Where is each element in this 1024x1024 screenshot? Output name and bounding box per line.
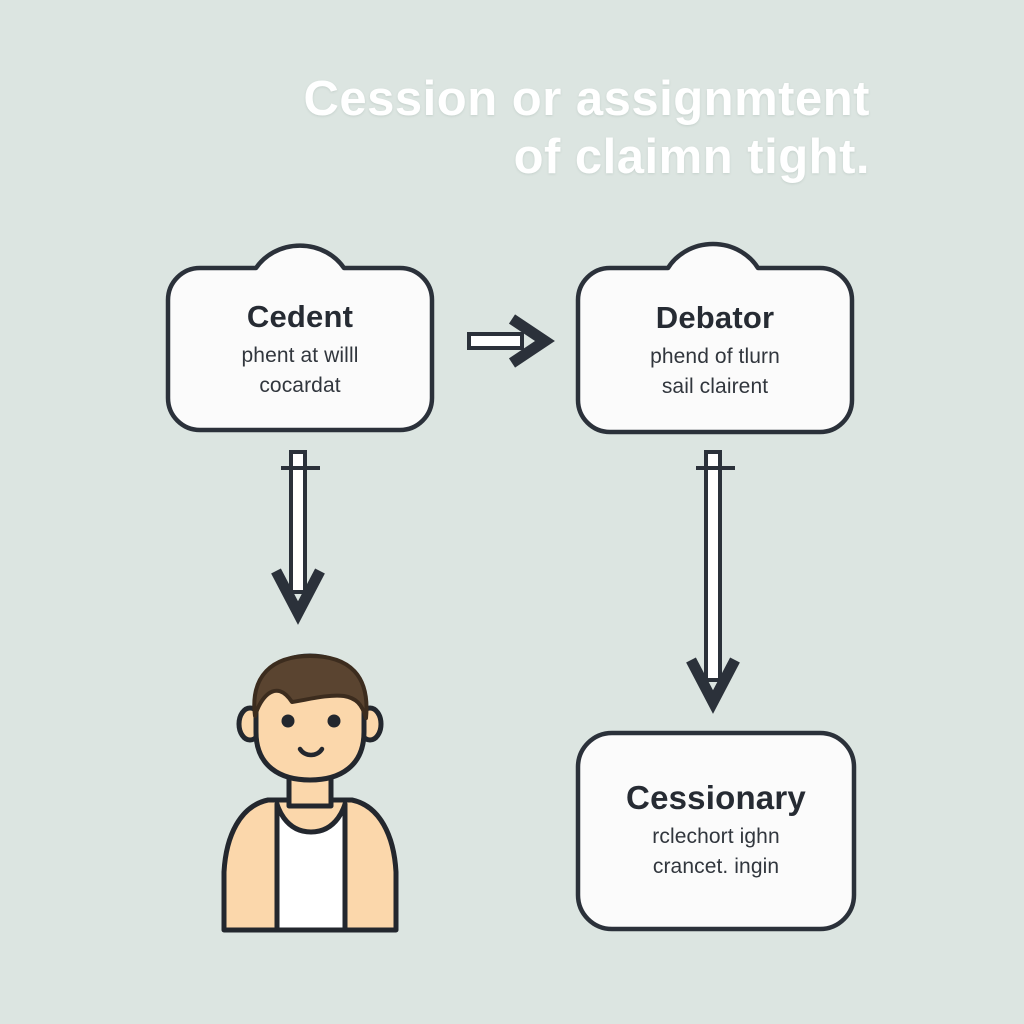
node-cedent-subtitle: phent at willl cocardat [242, 341, 359, 401]
arrow-shaft-vertical-left [291, 452, 305, 592]
person-eye-left [282, 715, 295, 728]
node-cedent-subtitle-line-2: cocardat [242, 371, 359, 401]
node-cessionary[interactable]: Cessionary rclechort ighn crancet. ingin [578, 733, 854, 929]
node-cedent-title: Cedent [247, 299, 353, 335]
arrow-debtor-to-cessionary [691, 452, 735, 702]
node-cedent[interactable]: Cedent phent at willl cocardat [168, 258, 432, 430]
person-eye-right [328, 715, 341, 728]
node-cessionary-title: Cessionary [626, 780, 806, 816]
artwork-layer [0, 0, 1024, 1024]
node-cessionary-subtitle-line-1: rclechort ighn [652, 822, 779, 852]
node-cessionary-subtitle: rclechort ighn crancet. ingin [652, 822, 779, 882]
node-cedent-subtitle-line-1: phent at willl [242, 341, 359, 371]
node-cessionary-subtitle-line-2: crancet. ingin [652, 852, 779, 882]
arrow-shaft-vertical-right [706, 452, 720, 680]
node-debtor[interactable]: Debator phend of tlurn sail clairent [578, 258, 852, 432]
arrow-cedent-to-person [276, 452, 320, 613]
diagram-canvas: Cession or assignmtent of claimn tight. [0, 0, 1024, 1024]
arrow-cedent-to-debtor [469, 319, 545, 363]
person-figure [224, 656, 396, 930]
arrow-shaft-horizontal [469, 334, 522, 348]
node-debtor-subtitle-line-1: phend of tlurn [650, 342, 780, 372]
node-debtor-title: Debator [656, 300, 775, 336]
node-debtor-subtitle-line-2: sail clairent [650, 372, 780, 402]
node-debtor-subtitle: phend of tlurn sail clairent [650, 342, 780, 402]
